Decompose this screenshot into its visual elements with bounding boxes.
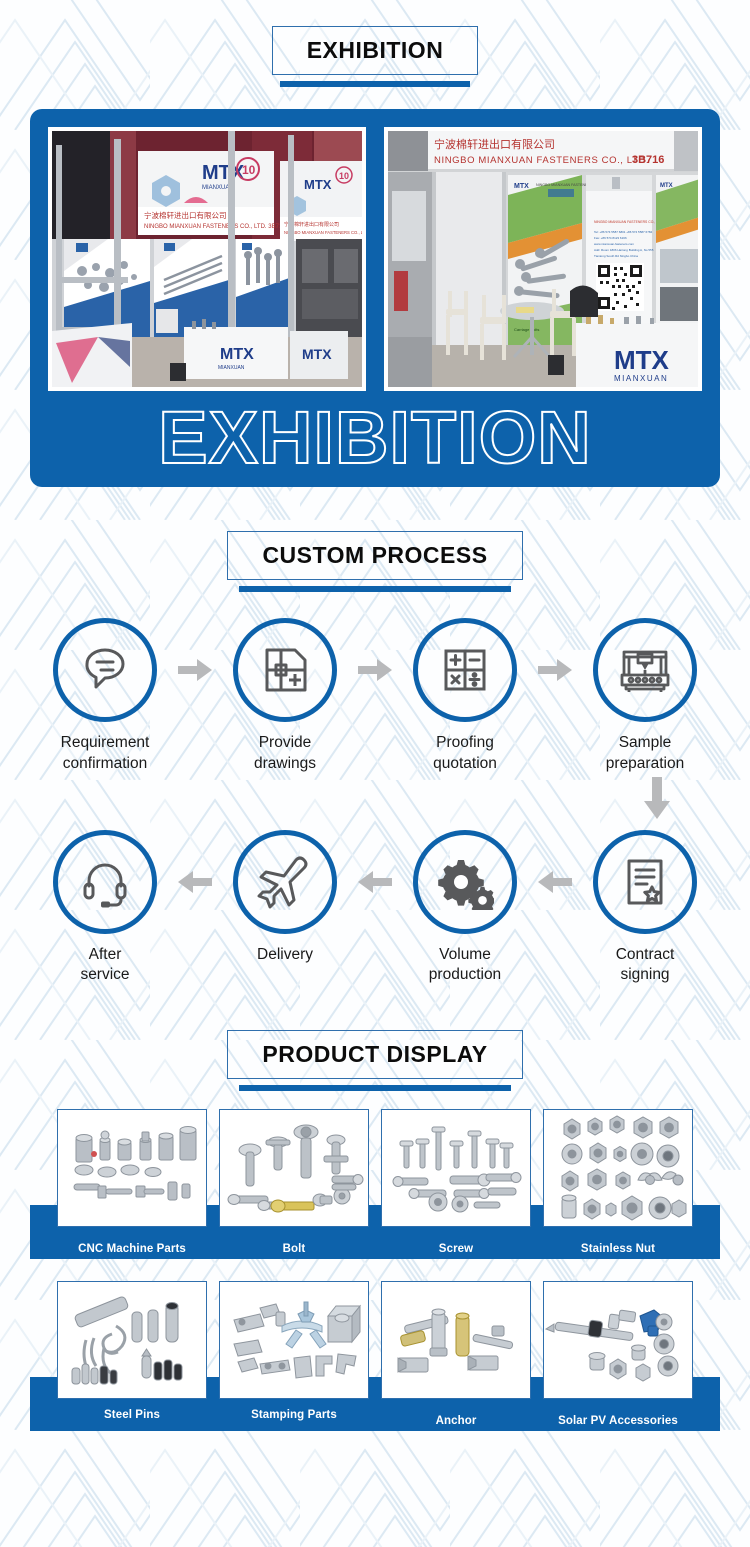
flow-arrow-left-icon	[355, 830, 395, 934]
product-row-2: Steel Pins	[0, 1281, 750, 1431]
calculator-icon	[437, 642, 493, 698]
product-card-list: Steel Pins	[0, 1281, 750, 1428]
product-card-cnc-machine-parts[interactable]: CNC Machine Parts	[57, 1109, 207, 1256]
product-card-label: Solar PV Accessories	[543, 1415, 693, 1428]
flow-arrow-left-icon	[175, 830, 215, 934]
flow-connector-down	[25, 777, 725, 824]
product-row-1: CNC Machine Parts	[0, 1109, 750, 1259]
heading-box-product-display: PRODUCT DISPLAY	[227, 1030, 522, 1079]
product-thumbnail	[219, 1281, 369, 1399]
svg-text:MTX: MTX	[514, 183, 529, 190]
airplane-icon	[256, 854, 314, 910]
exhibition-photo-row: MTX MIANXUAN 10 宁波棉轩进出口有限公司 NINGBO MIANX…	[48, 127, 702, 391]
product-thumbnail	[219, 1109, 369, 1227]
svg-text:宁波棉轩进出口有限公司: 宁波棉轩进出口有限公司	[144, 210, 227, 220]
photo-1-content: MTX MIANXUAN 10 宁波棉轩进出口有限公司 NINGBO MIANX…	[52, 131, 362, 387]
process-step-label: After service	[35, 945, 175, 987]
product-card-label: Bolt	[219, 1243, 369, 1256]
svg-text:www.mianxuan-fasteners.com: www.mianxuan-fasteners.com	[594, 242, 635, 246]
product-card-screw[interactable]: Screw	[381, 1109, 531, 1256]
process-step-label: Volume production	[395, 945, 535, 987]
svg-text:MTX: MTX	[302, 346, 332, 362]
gears-icon	[436, 854, 494, 910]
process-circle	[53, 830, 157, 934]
svg-text:Tel: +86 574 5587 6801 +86: Tel: +86 574 5587 6801 +86 574 5587 6784	[594, 230, 653, 234]
exhibition-booth-photo-1[interactable]: MTX MIANXUAN 10 宁波棉轩进出口有限公司 NINGBO MIANX…	[48, 127, 366, 391]
headset-icon	[77, 854, 133, 910]
process-step-volume-production[interactable]: Volume production	[395, 830, 535, 987]
flow-arrow-down-icon	[644, 777, 670, 824]
svg-text:10: 10	[242, 163, 256, 177]
process-circle	[233, 618, 337, 722]
svg-text:Carriage Bolts: Carriage Bolts	[514, 327, 539, 332]
process-step-after-service[interactable]: After service	[35, 830, 175, 987]
exhibition-banner-wordmark: EXHIBITION	[48, 401, 702, 475]
process-circle	[53, 618, 157, 722]
section-heading-custom-process: CUSTOM PROCESS	[0, 487, 750, 592]
photo-2-content: 宁波棉轩进出口有限公司 NINGBO MIANXUAN FASTENERS CO…	[388, 131, 698, 387]
process-step-requirement-confirmation[interactable]: Requirement confirmation	[35, 618, 175, 775]
heading-underline-custom-process	[239, 586, 511, 592]
product-card-stainless-nut[interactable]: Stainless Nut	[543, 1109, 693, 1256]
flow-arrow-right-icon	[175, 618, 215, 722]
process-circle	[593, 830, 697, 934]
product-card-label: Stamping Parts	[219, 1409, 369, 1422]
custom-process-flow: Requirement confirmation	[25, 618, 725, 986]
heading-box-exhibition: EXHIBITION	[272, 26, 479, 75]
product-card-stamping-parts[interactable]: Stamping Parts	[219, 1281, 369, 1428]
svg-text:NINGBO MIANXUAN FASTENERS CO.,: NINGBO MIANXUAN FASTENERS CO., LTD.	[434, 155, 649, 166]
product-thumbnail	[543, 1281, 693, 1399]
product-card-label: Anchor	[381, 1415, 531, 1428]
svg-text:MTX: MTX	[660, 183, 673, 189]
process-circle	[593, 618, 697, 722]
process-circle	[413, 830, 517, 934]
process-step-label: Sample preparation	[575, 733, 715, 775]
process-step-delivery[interactable]: Delivery	[215, 830, 355, 966]
exhibition-booth-photo-2[interactable]: 宁波棉轩进出口有限公司 NINGBO MIANXUAN FASTENERS CO…	[384, 127, 702, 391]
svg-text:Fax: +86 574 8123 6166: Fax: +86 574 8123 6166	[594, 236, 627, 240]
process-step-label: Provide drawings	[215, 733, 355, 775]
cnc-machine-icon	[616, 642, 674, 698]
svg-text:MTX: MTX	[614, 345, 670, 375]
svg-text:MTX: MTX	[220, 346, 254, 363]
svg-text:NINGBO MIANXUAN FASTENERS CO.,: NINGBO MIANXUAN FASTENERS CO., LTD. 3B71…	[144, 224, 286, 230]
process-step-contract-signing[interactable]: Contract signing	[575, 830, 715, 987]
section-heading-exhibition: EXHIBITION	[0, 0, 750, 87]
product-display-grid: CNC Machine Parts	[0, 1109, 750, 1431]
process-step-label: Requirement confirmation	[35, 733, 175, 775]
flow-arrow-right-icon	[355, 618, 395, 722]
page-title-product-display: PRODUCT DISPLAY	[262, 1043, 487, 1066]
product-card-label: CNC Machine Parts	[57, 1243, 207, 1256]
speech-bubble-icon	[77, 642, 133, 698]
heading-underline-product-display	[239, 1085, 511, 1091]
process-step-proofing-quotation[interactable]: Proofing quotation	[395, 618, 535, 775]
svg-text:宁波棉轩进出口有限公司: 宁波棉轩进出口有限公司	[434, 137, 555, 151]
process-step-sample-preparation[interactable]: Sample preparation	[575, 618, 715, 775]
page-root: EXHIBITION	[0, 0, 750, 1431]
blueprint-drawing-icon	[257, 642, 313, 698]
product-card-label: Screw	[381, 1243, 531, 1256]
process-step-label: Delivery	[215, 945, 355, 966]
product-card-list: CNC Machine Parts	[0, 1109, 750, 1256]
svg-text:MTX: MTX	[304, 177, 332, 192]
svg-text:NINGBO MIANXUAN FASTENERS CO.,: NINGBO MIANXUAN FASTENERS CO., LTD	[594, 220, 663, 224]
svg-text:MIANXUAN: MIANXUAN	[614, 374, 668, 383]
page-title-custom-process: CUSTOM PROCESS	[262, 544, 487, 567]
product-card-anchor[interactable]: Anchor	[381, 1281, 531, 1428]
svg-text:Add: Room 1806 Hairong Buildin: Add: Room 1806 Hairong Building A, No 55…	[594, 248, 654, 252]
process-circle	[233, 830, 337, 934]
process-row-1: Requirement confirmation	[25, 618, 725, 775]
product-thumbnail	[381, 1281, 531, 1399]
product-thumbnail	[57, 1281, 207, 1399]
svg-text:3B716: 3B716	[632, 154, 664, 166]
flow-arrow-right-icon	[535, 618, 575, 722]
heading-box-custom-process: CUSTOM PROCESS	[227, 531, 522, 580]
process-step-provide-drawings[interactable]: Provide drawings	[215, 618, 355, 775]
svg-text:MIANXUAN: MIANXUAN	[218, 365, 245, 371]
svg-text:10: 10	[339, 171, 349, 181]
product-card-solar-pv-accessories[interactable]: Solar PV Accessories	[543, 1281, 693, 1428]
process-row-2: After service Delivery	[25, 830, 725, 987]
certificate-icon	[617, 854, 673, 910]
product-card-label: Stainless Nut	[543, 1243, 693, 1256]
page-title-exhibition: EXHIBITION	[307, 39, 444, 62]
process-step-label: Proofing quotation	[395, 733, 535, 775]
flow-arrow-left-icon	[535, 830, 575, 934]
product-thumbnail	[543, 1109, 693, 1227]
process-step-label: Contract signing	[575, 945, 715, 987]
product-thumbnail	[381, 1109, 531, 1227]
section-heading-product-display: PRODUCT DISPLAY	[0, 986, 750, 1091]
exhibition-banner: MTX MIANXUAN 10 宁波棉轩进出口有限公司 NINGBO MIANX…	[30, 109, 720, 487]
product-card-label: Steel Pins	[57, 1409, 207, 1422]
svg-text:NINGBO MIANXUAN FASTENERS CO.,: NINGBO MIANXUAN FASTENERS CO., LTD	[284, 230, 362, 235]
process-circle	[413, 618, 517, 722]
product-card-bolt[interactable]: Bolt	[219, 1109, 369, 1256]
product-thumbnail	[57, 1109, 207, 1227]
heading-underline-exhibition	[280, 81, 470, 87]
product-card-steel-pins[interactable]: Steel Pins	[57, 1281, 207, 1428]
svg-text:Tiantong South Rd Ningbo China: Tiantong South Rd Ningbo China	[594, 254, 638, 258]
